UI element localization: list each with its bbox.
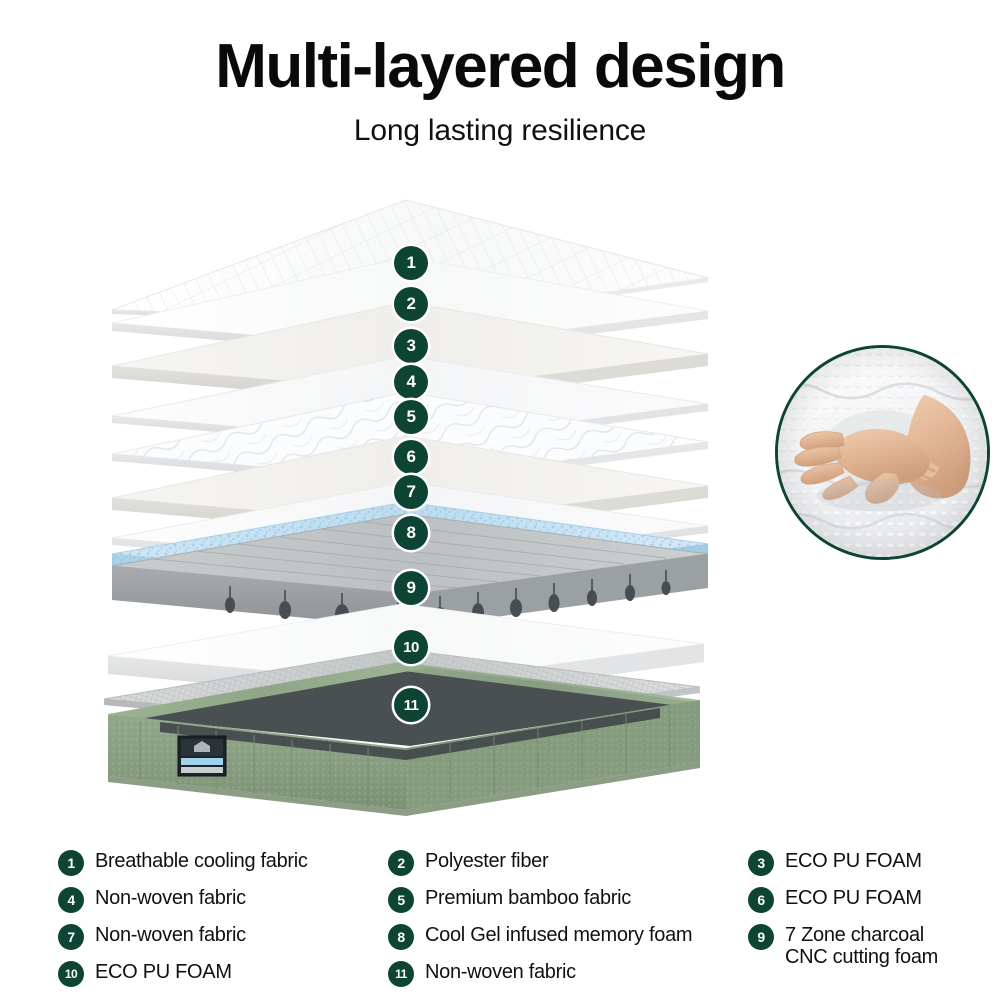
legend-item[interactable]: 8 Cool Gel infused memory foam [388,922,743,958]
legend-column-1: 1 Breathable cooling fabric 4 Non-woven … [58,848,388,996]
legend-item[interactable]: 4 Non-woven fabric [58,885,388,921]
stack-badge-8[interactable]: 8 [394,516,428,550]
legend-badge: 8 [388,924,414,950]
legend-badge: 6 [748,887,774,913]
legend-column-2: 2 Polyester fiber 5 Premium bamboo fabri… [388,848,743,996]
legend: 1 Breathable cooling fabric 4 Non-woven … [0,848,1000,998]
legend-label: Breathable cooling fabric [95,848,308,872]
legend-item[interactable]: 3 ECO PU FOAM [748,848,988,884]
stack-badge-6[interactable]: 6 [394,440,428,474]
legend-label: Non-woven fabric [95,922,246,946]
product-label [178,736,226,776]
stack-badge-11[interactable]: 11 [394,688,428,722]
exploded-layer-diagram: 1 2 3 4 5 6 7 8 9 10 11 [0,0,760,830]
legend-item[interactable]: 10 ECO PU FOAM [58,959,388,995]
legend-label: 7 Zone charcoal CNC cutting foam [785,922,938,969]
legend-badge: 4 [58,887,84,913]
legend-item[interactable]: 2 Polyester fiber [388,848,743,884]
legend-item[interactable]: 1 Breathable cooling fabric [58,848,388,884]
legend-item[interactable]: 11 Non-woven fabric [388,959,743,995]
legend-badge: 9 [748,924,774,950]
slab-shape-base [100,648,710,828]
legend-item[interactable]: 6 ECO PU FOAM [748,885,988,921]
legend-label: ECO PU FOAM [785,848,922,872]
legend-badge: 3 [748,850,774,876]
stack-badge-2[interactable]: 2 [394,287,428,321]
memory-foam-hand-photo [775,345,990,560]
stack-badge-3[interactable]: 3 [394,329,428,363]
legend-label: ECO PU FOAM [95,959,232,983]
stack-badge-5[interactable]: 5 [394,400,428,434]
legend-label: Cool Gel infused memory foam [425,922,692,946]
legend-badge: 2 [388,850,414,876]
legend-item[interactable]: 5 Premium bamboo fabric [388,885,743,921]
stack-badge-4[interactable]: 4 [394,365,428,399]
stack-badge-1[interactable]: 1 [394,246,428,280]
legend-label: Polyester fiber [425,848,548,872]
legend-label: ECO PU FOAM [785,885,922,909]
legend-badge: 10 [58,961,84,987]
legend-label: Premium bamboo fabric [425,885,631,909]
mattress-base [100,648,710,828]
stack-badge-10[interactable]: 10 [394,630,428,664]
legend-badge: 5 [388,887,414,913]
legend-badge: 11 [388,961,414,987]
legend-badge: 7 [58,924,84,950]
legend-label: Non-woven fabric [425,959,576,983]
legend-label: Non-woven fabric [95,885,246,909]
legend-item[interactable]: 7 Non-woven fabric [58,922,388,958]
stack-badge-7[interactable]: 7 [394,475,428,509]
legend-item[interactable]: 9 7 Zone charcoal CNC cutting foam [748,922,988,958]
legend-badge: 1 [58,850,84,876]
legend-column-3: 3 ECO PU FOAM 6 ECO PU FOAM 9 7 Zone cha… [748,848,988,959]
stack-badge-9[interactable]: 9 [394,571,428,605]
